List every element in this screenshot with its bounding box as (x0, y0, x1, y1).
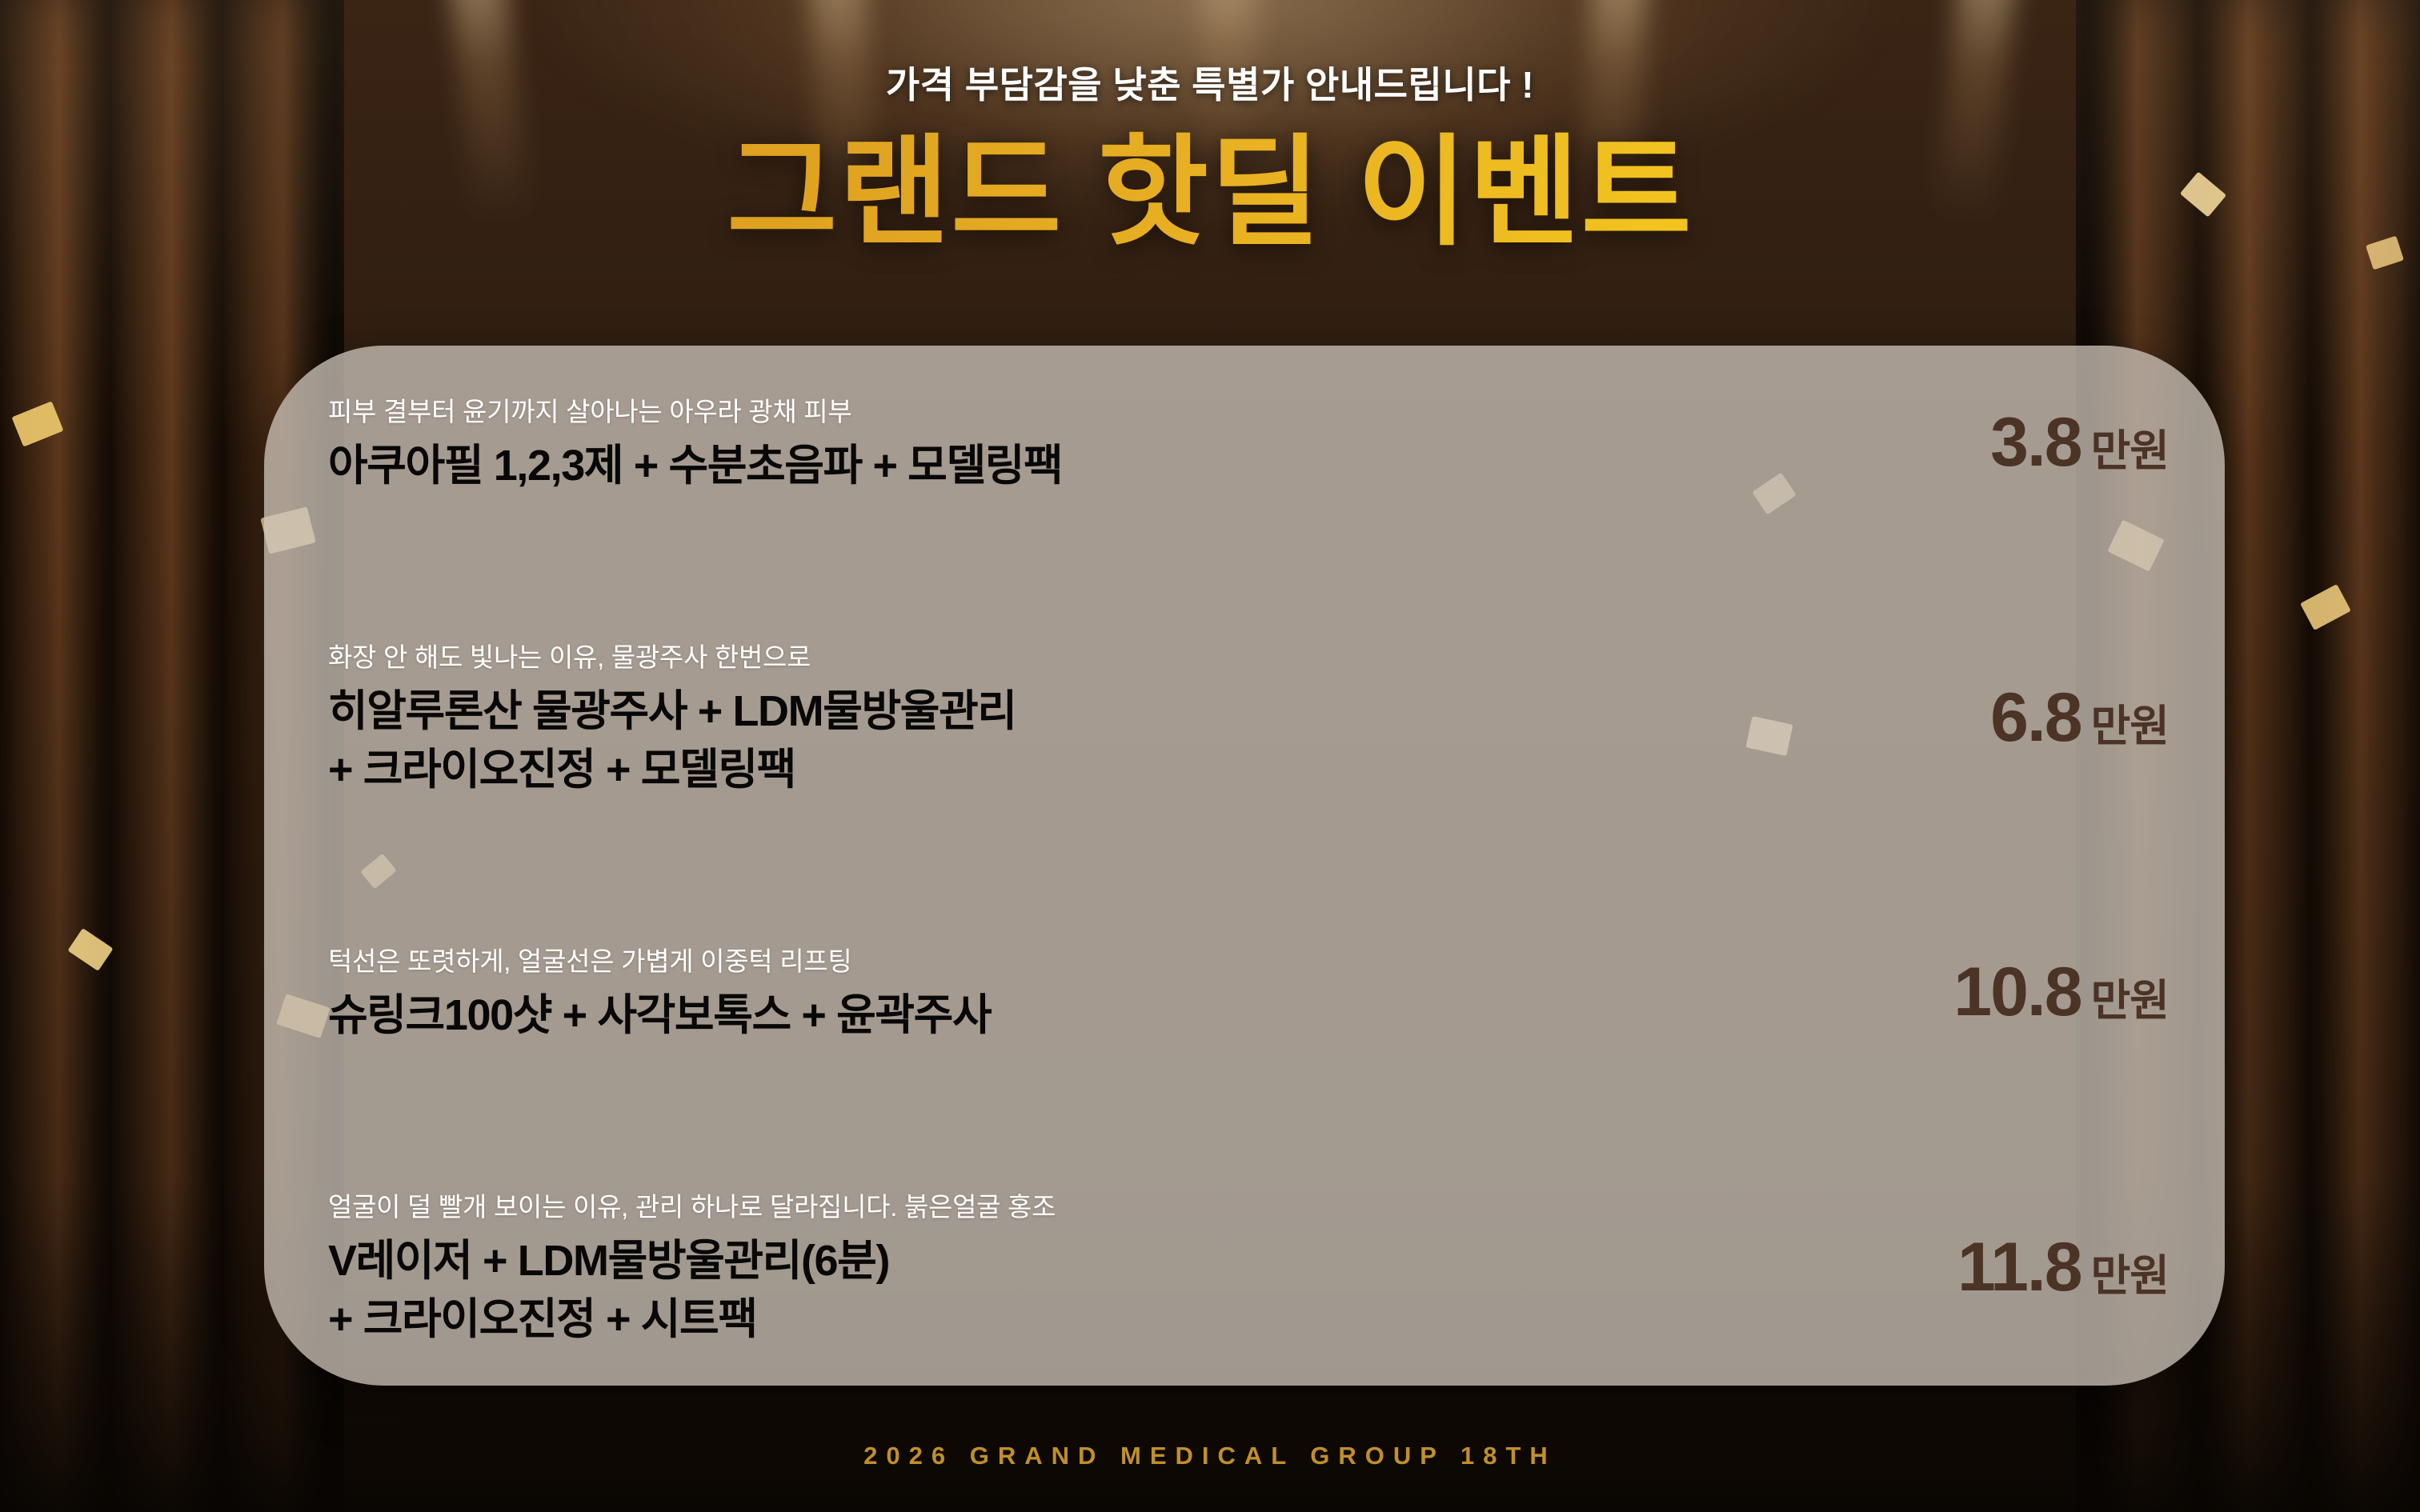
offer-price-unit: 만원 (2091, 690, 2169, 754)
offers-card: 피부 결부터 윤기까지 살아나는 아우라 광채 피부 아쿠아필 1,2,3제 +… (264, 346, 2225, 1386)
page-title: 그랜드 핫딜 이벤트 (0, 130, 2420, 256)
offer-price-unit: 만원 (2091, 1240, 2169, 1303)
offer-title-line: 히알루론산 물광주사 + LDM물방울관리 (328, 682, 1729, 741)
header: 가격 부담감을 낮춘 특별가 안내드립니다 ! 그랜드 핫딜 이벤트 (0, 56, 2420, 256)
offer-price: 10.8 만원 (1753, 953, 2169, 1032)
offer-price: 11.8 만원 (1753, 1228, 2169, 1307)
offer-title-line: + 크라이오진정 + 시트팩 (328, 1290, 1729, 1349)
offer-text: 얼굴이 덜 빨개 보이는 이유, 관리 하나로 달라집니다. 붉은얼굴 홍조 V… (328, 1186, 1729, 1349)
offer-price-value: 10.8 (1953, 953, 2081, 1032)
offer-title-line: 슈링크100샷 + 사각보톡스 + 윤곽주사 (328, 986, 1729, 1045)
offer-row[interactable]: 피부 결부터 윤기까지 살아나는 아우라 광채 피부 아쿠아필 1,2,3제 +… (328, 390, 2169, 495)
offer-price-value: 3.8 (1990, 403, 2081, 482)
offer-row[interactable]: 화장 안 해도 빛나는 이유, 물광주사 한번으로 히알루론산 물광주사 + L… (328, 636, 2169, 799)
offer-tagline: 피부 결부터 윤기까지 살아나는 아우라 광채 피부 (328, 390, 1729, 429)
offer-price-value: 6.8 (1990, 678, 2081, 758)
offer-tagline: 턱선은 또렷하게, 얼굴선은 가볍게 이중턱 리프팅 (328, 940, 1729, 978)
offer-row[interactable]: 턱선은 또렷하게, 얼굴선은 가볍게 이중턱 리프팅 슈링크100샷 + 사각보… (328, 940, 2169, 1045)
footer-brand: 2026 GRAND MEDICAL GROUP 18TH (0, 1442, 2420, 1470)
promo-banner: 가격 부담감을 낮춘 특별가 안내드립니다 ! 그랜드 핫딜 이벤트 피부 결부… (0, 0, 2420, 1512)
offer-price: 3.8 만원 (1753, 403, 2169, 482)
offer-text: 화장 안 해도 빛나는 이유, 물광주사 한번으로 히알루론산 물광주사 + L… (328, 636, 1729, 799)
header-subtitle: 가격 부담감을 낮춘 특별가 안내드립니다 ! (0, 56, 2420, 109)
offer-title-line: V레이저 + LDM물방울관리(6분) (328, 1232, 1729, 1290)
offer-title-line: 아쿠아필 1,2,3제 + 수분초음파 + 모델링팩 (328, 437, 1729, 495)
offer-price-unit: 만원 (2091, 415, 2169, 478)
offer-price-unit: 만원 (2091, 965, 2169, 1028)
offer-price: 6.8 만원 (1753, 678, 2169, 758)
offer-title-line: + 크라이오진정 + 모델링팩 (328, 741, 1729, 799)
offer-text: 피부 결부터 윤기까지 살아나는 아우라 광채 피부 아쿠아필 1,2,3제 +… (328, 390, 1729, 495)
offer-tagline: 얼굴이 덜 빨개 보이는 이유, 관리 하나로 달라집니다. 붉은얼굴 홍조 (328, 1186, 1729, 1224)
offers-list: 피부 결부터 윤기까지 살아나는 아우라 광채 피부 아쿠아필 1,2,3제 +… (328, 390, 2169, 1349)
offer-price-value: 11.8 (1957, 1228, 2081, 1307)
offer-text: 턱선은 또렷하게, 얼굴선은 가볍게 이중턱 리프팅 슈링크100샷 + 사각보… (328, 940, 1729, 1045)
offer-tagline: 화장 안 해도 빛나는 이유, 물광주사 한번으로 (328, 636, 1729, 674)
offer-row[interactable]: 얼굴이 덜 빨개 보이는 이유, 관리 하나로 달라집니다. 붉은얼굴 홍조 V… (328, 1186, 2169, 1349)
